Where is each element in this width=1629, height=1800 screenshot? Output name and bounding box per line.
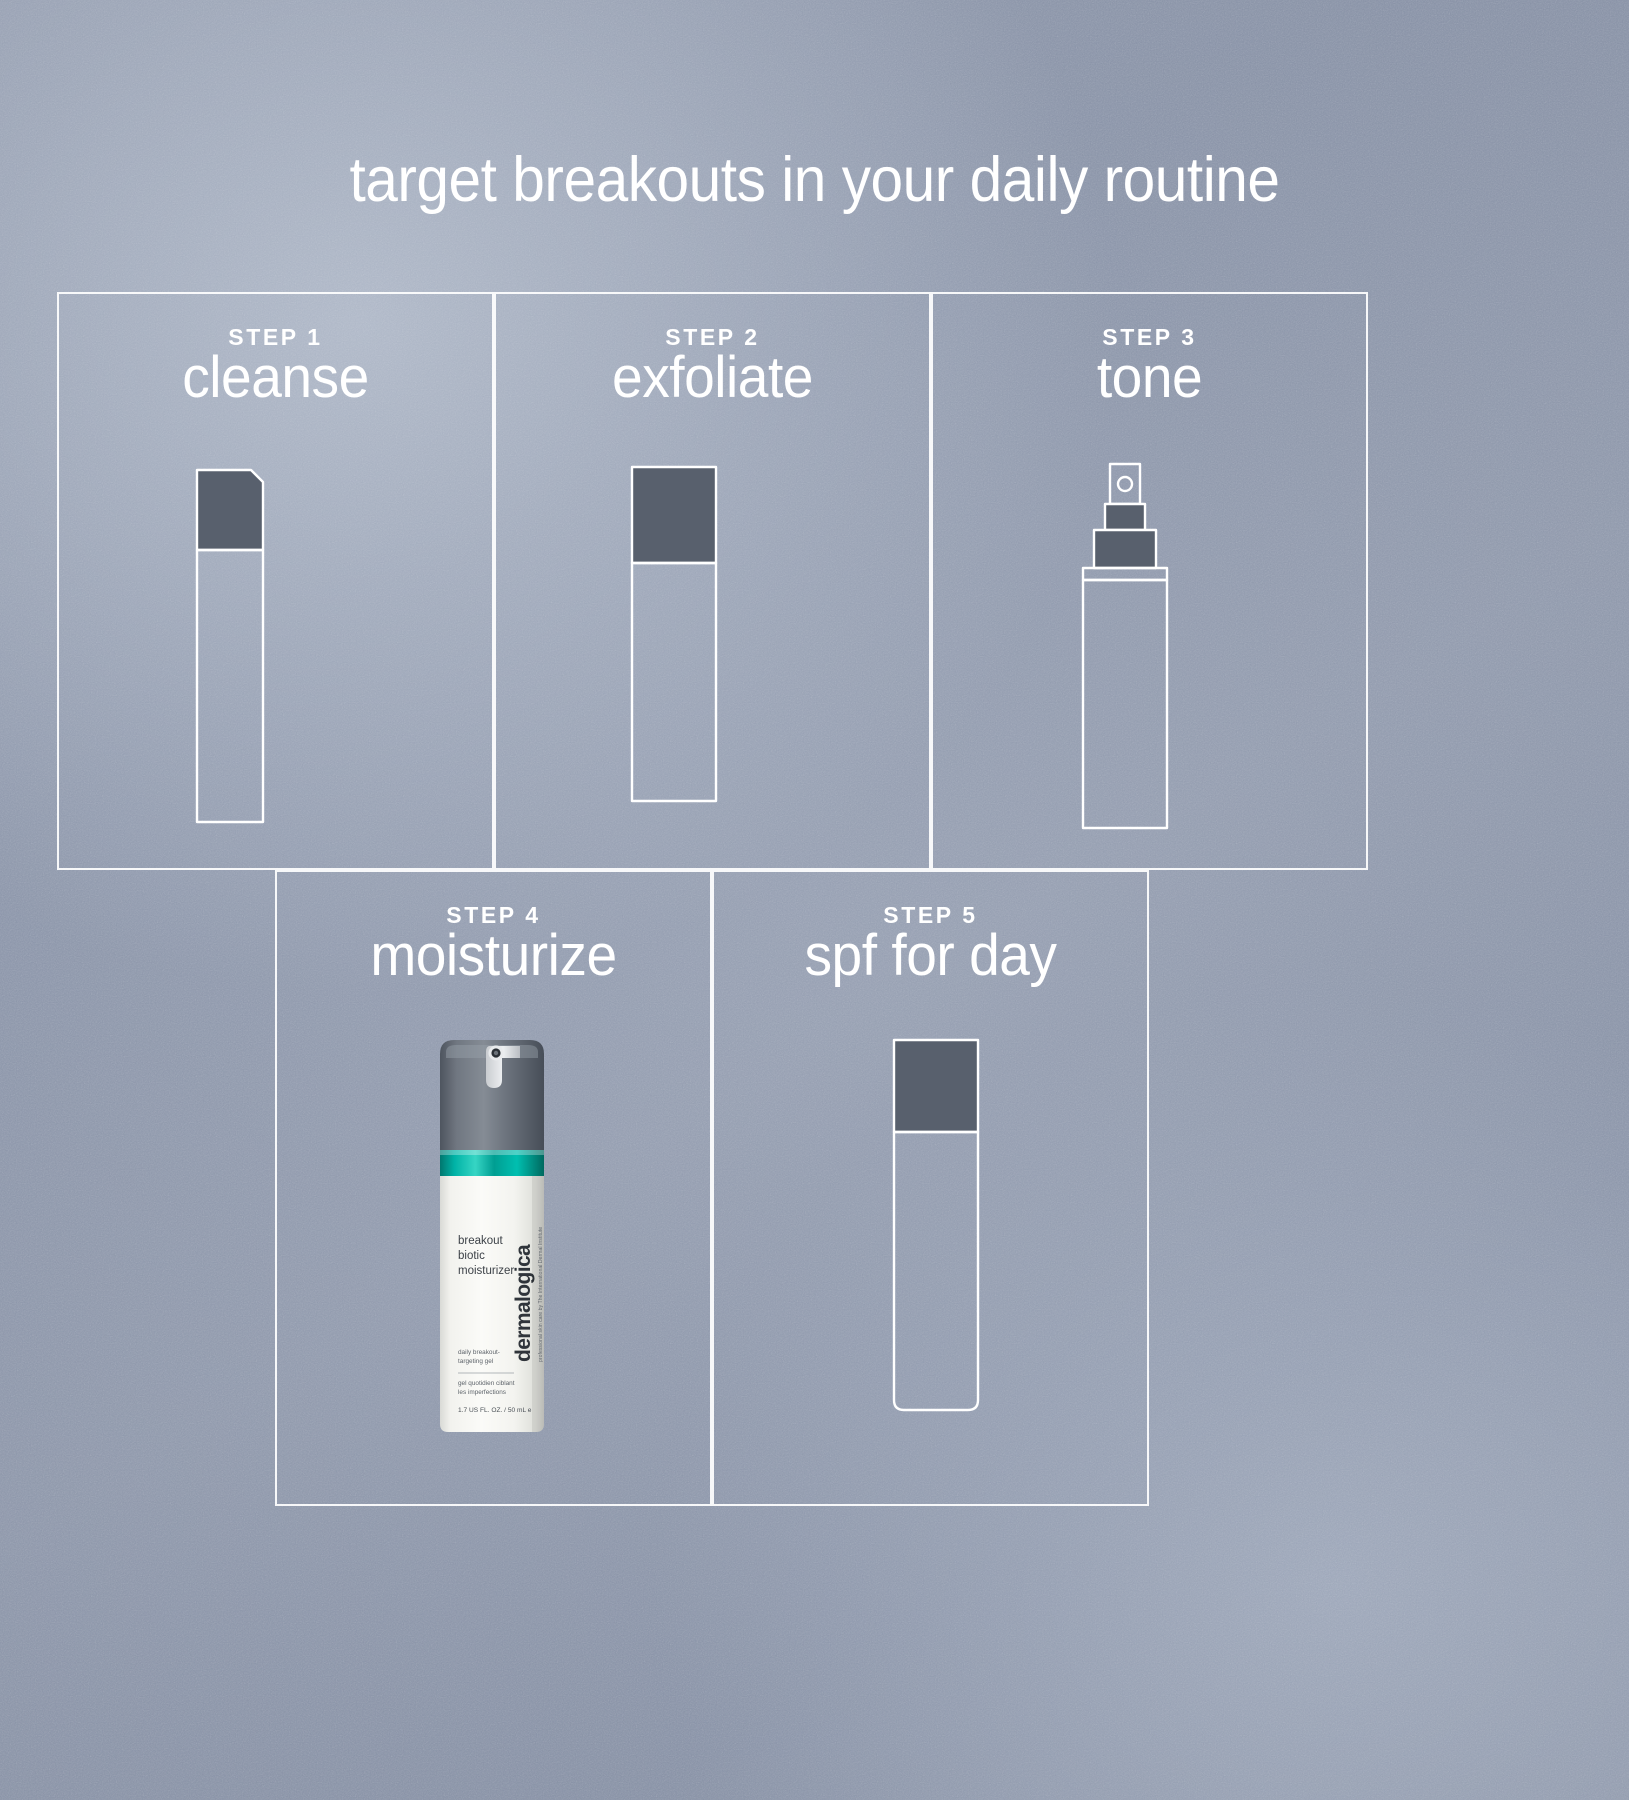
step-panel-exfoliate[interactable]: STEP 2 exfoliate <box>494 292 931 870</box>
step-name-2: exfoliate <box>507 344 918 411</box>
exfoliant-bottle-icon <box>614 459 814 839</box>
product-name-line-1: breakout <box>458 1235 504 1247</box>
product-brand: dermalogica <box>512 1244 535 1362</box>
product-volume: 1.7 US FL. OZ. / 50 mL e <box>458 1407 532 1414</box>
product-descriptor-line-2: targeting gel <box>458 1358 493 1365</box>
product-descriptor-line-1: daily breakout- <box>458 1349 500 1356</box>
step-name-4: moisturize <box>288 922 699 989</box>
spf-tube-icon <box>844 1032 1044 1432</box>
step-panel-cleanse[interactable]: STEP 1 cleanse <box>57 292 494 870</box>
step-name-3: tone <box>944 344 1355 411</box>
toner-spray-bottle-icon <box>1061 456 1261 846</box>
step-panel-tone[interactable]: STEP 3 tone <box>931 292 1368 870</box>
step-name-1: cleanse <box>70 344 481 411</box>
moisturizer-pump-bottle-icon: breakout biotic moisturizer daily breako… <box>432 1032 552 1442</box>
step-name-5: spf for day <box>725 922 1136 989</box>
product-name-line-3: moisturizer <box>458 1265 514 1277</box>
product-descriptor-fr-line-2: les imperfections <box>458 1389 506 1396</box>
page-title: target breakouts in your daily routine <box>57 146 1572 215</box>
product-descriptor-fr-line-1: gel quotidien ciblant <box>458 1380 515 1387</box>
product-name-line-2: biotic <box>458 1250 485 1262</box>
cleanser-tube-icon <box>177 462 377 842</box>
step-panel-spf[interactable]: STEP 5 spf for day <box>712 870 1149 1506</box>
